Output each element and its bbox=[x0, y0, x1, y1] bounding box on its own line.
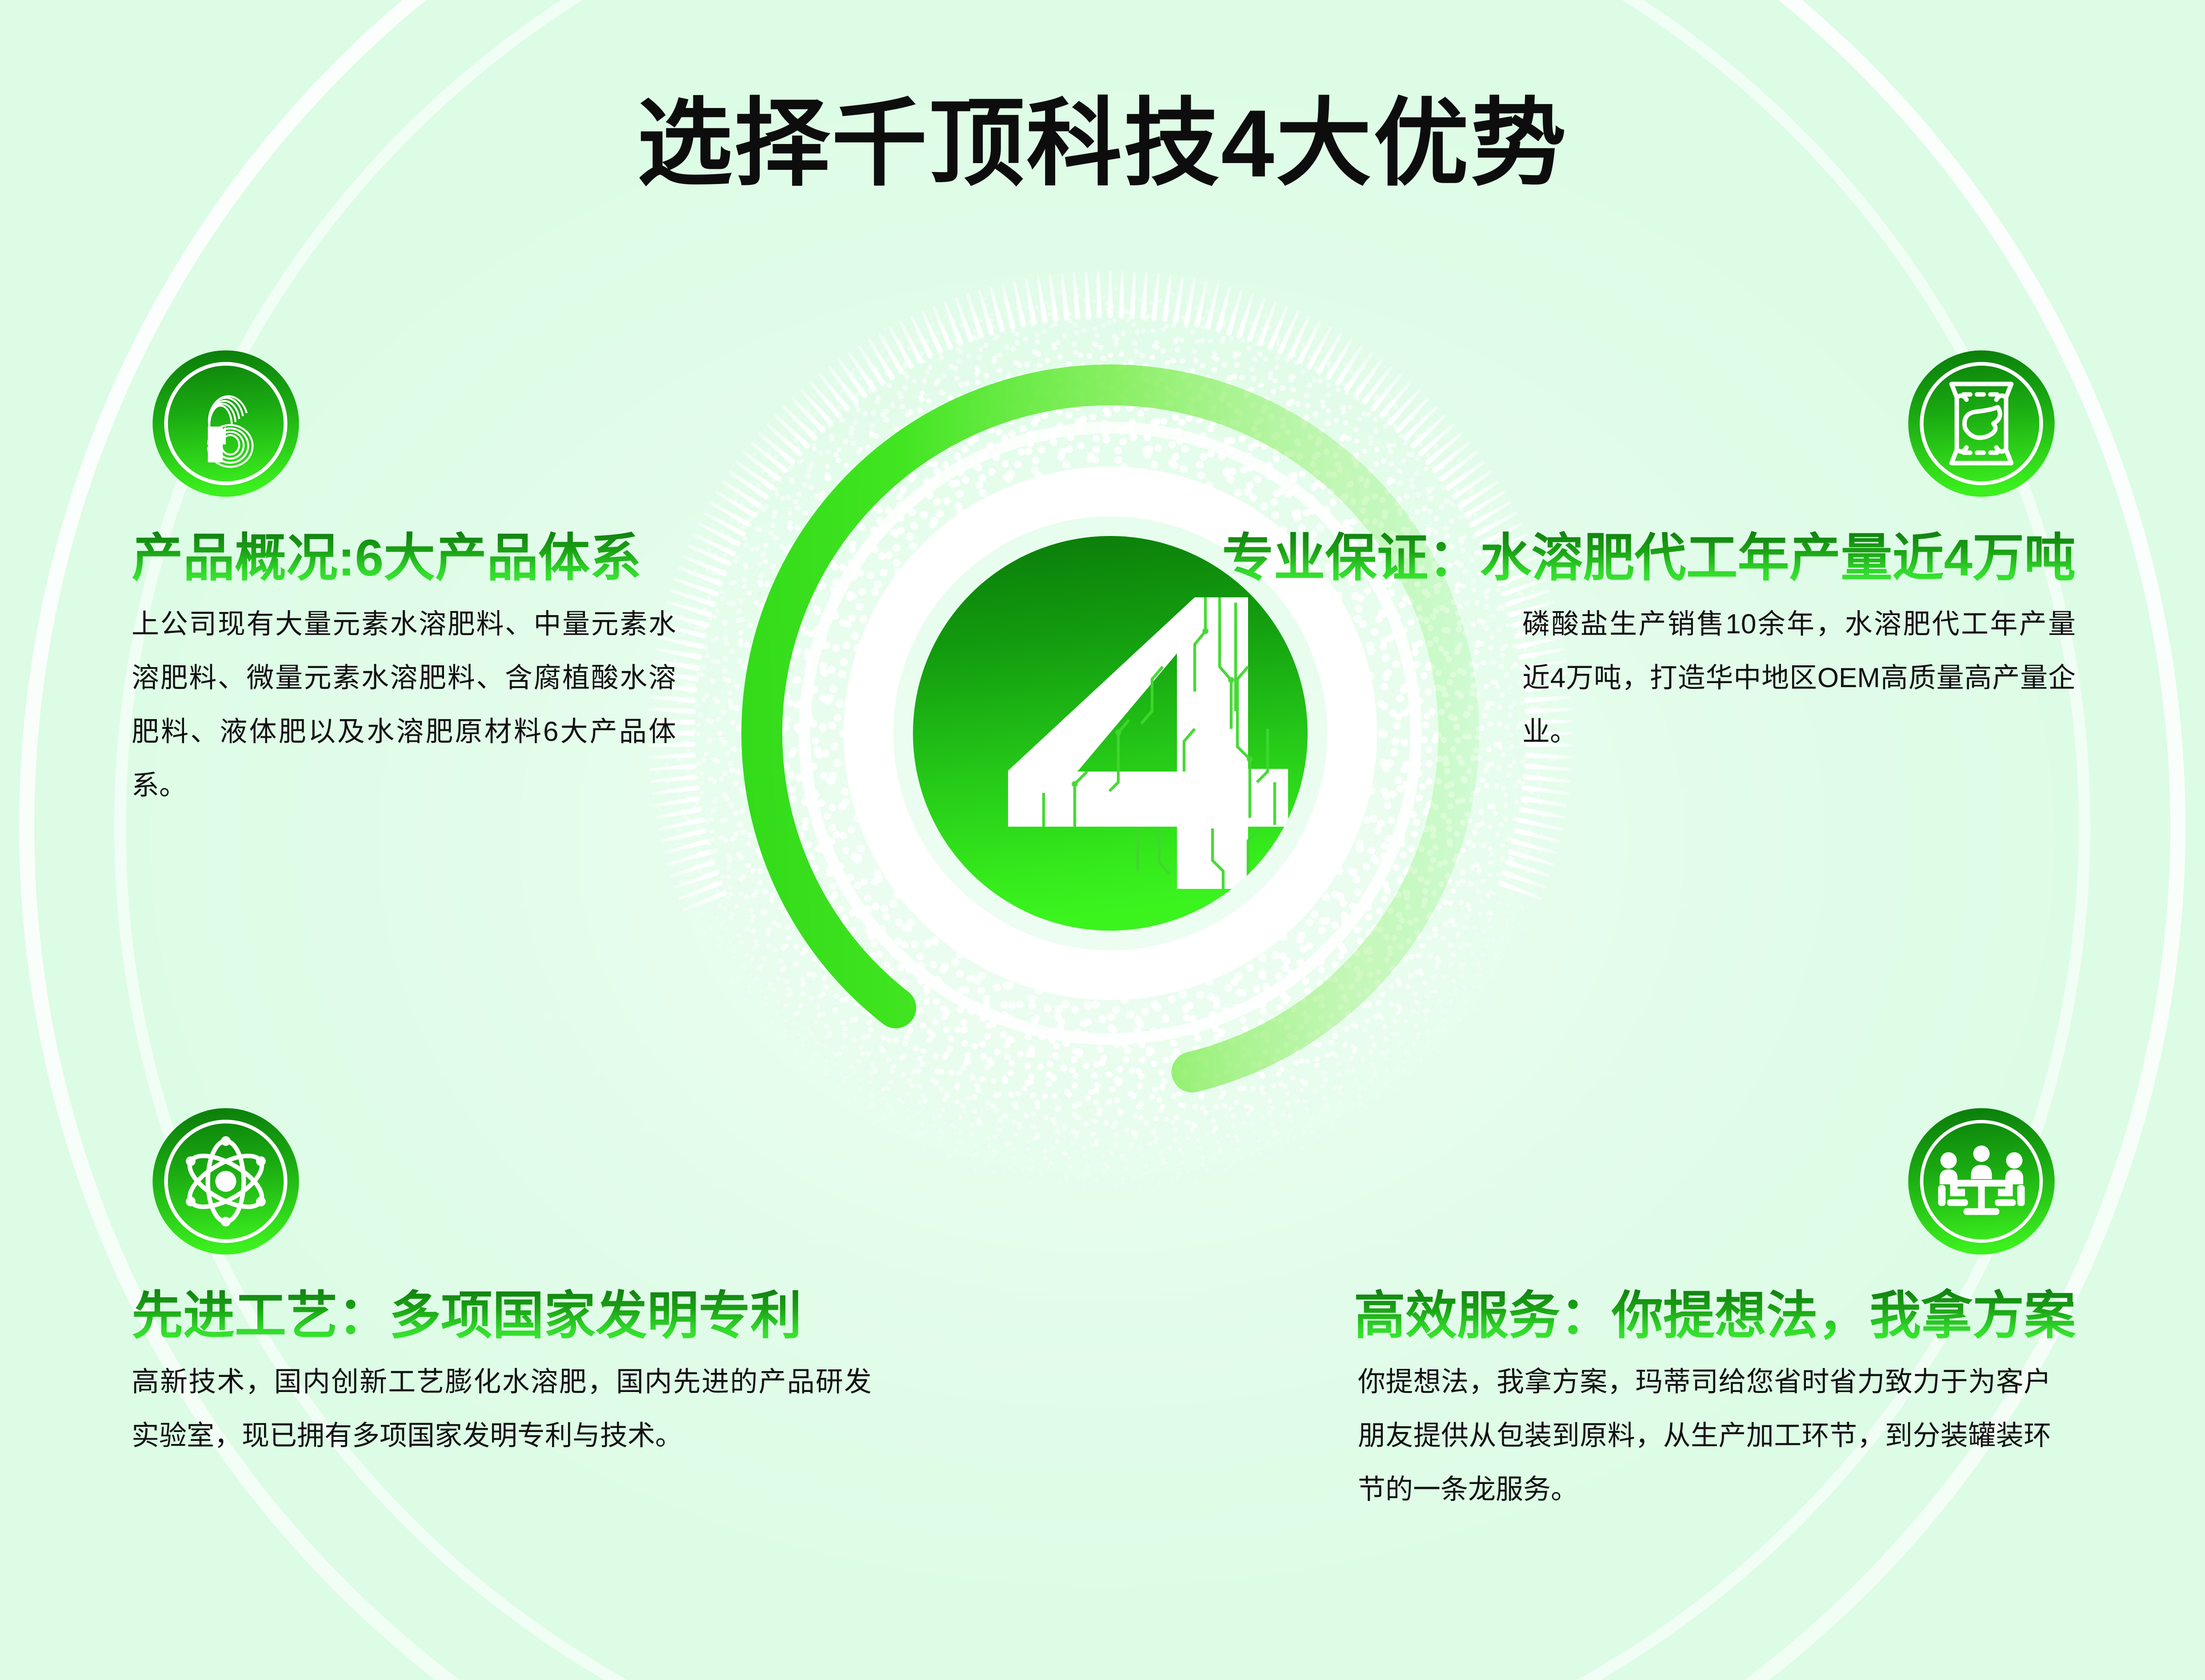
meeting-table-icon bbox=[1907, 1107, 2056, 1256]
page-title: 选择千顶科技4大优势 bbox=[0, 96, 2205, 191]
advantage-body: 你提想法，我拿方案，玛蒂司给您省时省力致力于为客户朋友提供从包装到原料，从生产加… bbox=[1358, 1356, 2051, 1517]
advantage-heading: 高效服务：你提想法，我拿方案 bbox=[1354, 1286, 2076, 1346]
advantage-heading: 专业保证：水溶肥代工年产量近4万吨 bbox=[1222, 528, 2076, 588]
fertilizer-bag-icon bbox=[1907, 349, 2056, 498]
advantage-heading: 先进工艺：多项国家发明专利 bbox=[132, 1286, 802, 1346]
center-emblem bbox=[626, 249, 1595, 1218]
advantage-body: 磷酸盐生产销售10余年，水溶肥代工年产量近4万吨，打造华中地区OEM高质量高产量… bbox=[1522, 598, 2076, 759]
number-six-spiral-icon bbox=[151, 349, 300, 498]
advantage-heading: 产品概况:6大产品体系 bbox=[132, 528, 641, 588]
atom-icon bbox=[151, 1107, 300, 1256]
advantage-body: 高新技术，国内创新工艺膨化水溶肥，国内先进的产品研发实验室，现已拥有多项国家发明… bbox=[132, 1356, 872, 1463]
advantage-body: 上公司现有大量元素水溶肥料、中量元素水溶肥料、微量元素水溶肥料、含腐植酸水溶肥料… bbox=[132, 598, 676, 813]
